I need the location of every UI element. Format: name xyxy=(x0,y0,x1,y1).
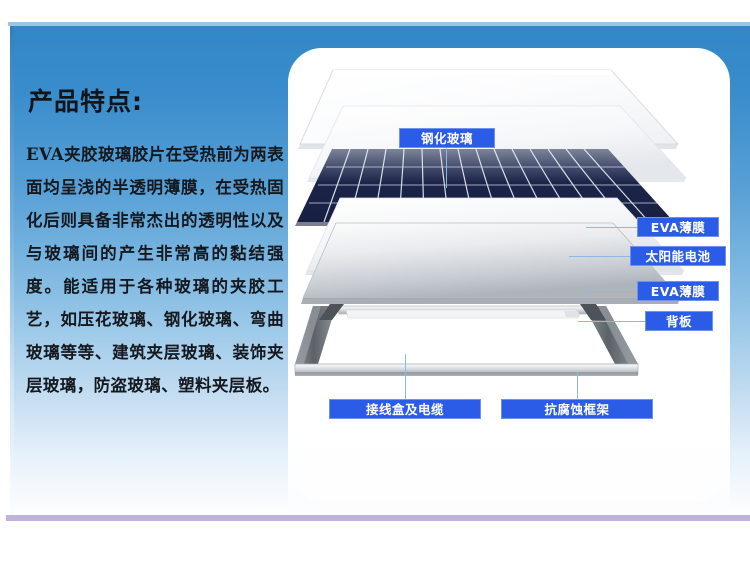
bottom-divider-rule xyxy=(6,515,750,521)
blue-background-left-edge xyxy=(10,26,14,515)
leader-line-solar-cell xyxy=(569,256,630,257)
feature-text-column: 产品特点: EVA夹胶玻璃胶片在受热前为两表面均呈浅的半透明薄膜，在受热固化后则… xyxy=(26,82,288,402)
leader-line-anti-corrosion-frame xyxy=(577,372,578,399)
solar-module-exploded-diagram xyxy=(288,48,730,503)
label-junction-box: 接线盒及电缆 xyxy=(329,399,481,419)
label-back-sheet: 背板 xyxy=(645,311,713,331)
label-solar-cell: 太阳能电池 xyxy=(630,246,726,266)
label-anti-corrosion-frame: 抗腐蚀框架 xyxy=(501,399,653,419)
layer-aluminium-frame xyxy=(295,304,638,376)
leader-line-eva-film-bottom xyxy=(586,291,637,292)
label-eva-film-bottom: EVA薄膜 xyxy=(637,281,719,301)
label-tempered-glass: 钢化玻璃 xyxy=(399,128,495,148)
page-title: 产品特点: xyxy=(28,82,288,118)
leader-line-junction-box xyxy=(405,354,406,399)
leader-line-tempered-glass xyxy=(446,148,447,188)
feature-description: EVA夹胶玻璃胶片在受热前为两表面均呈浅的半透明薄膜，在受热固化后则具备非常杰出… xyxy=(26,138,284,402)
leader-line-eva-film-top xyxy=(586,227,637,228)
product-feature-banner: 产品特点: EVA夹胶玻璃胶片在受热前为两表面均呈浅的半透明薄膜，在受热固化后则… xyxy=(0,0,750,564)
label-eva-film-top: EVA薄膜 xyxy=(637,217,719,237)
leader-line-back-sheet xyxy=(578,321,645,322)
